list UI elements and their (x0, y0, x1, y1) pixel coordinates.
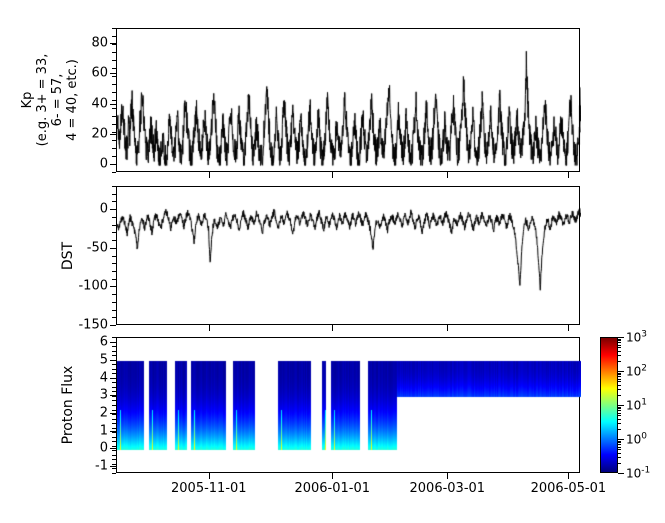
tick-mark (618, 457, 621, 458)
tick-mark (618, 389, 621, 390)
tick-mark (618, 442, 621, 443)
tick-mark (618, 351, 621, 352)
tick-mark (618, 473, 624, 474)
tick-mark (618, 439, 624, 440)
tick-mark (618, 340, 621, 341)
colorbar-tick-mantissa: 10 (626, 399, 641, 413)
colorbar-tick-exponent: 2 (641, 364, 647, 374)
tick-mark (618, 342, 621, 343)
colorbar-tick-exponent: -1 (641, 466, 650, 476)
colorbar-tick-mantissa: 10 (626, 365, 641, 379)
tick-mark (618, 381, 621, 382)
figure-root: Kp(e.g. 3+ = 33,6- = 57,4 = 40, etc.) 02… (0, 0, 665, 523)
tick-mark (618, 413, 621, 414)
tick-mark (618, 355, 621, 356)
tick-mark (618, 444, 621, 445)
tick-mark (618, 449, 621, 450)
colorbar-gradient (600, 337, 618, 473)
tick-mark (618, 463, 621, 464)
colorbar-tick-exponent: 0 (641, 432, 647, 442)
colorbar-tick-label: 102 (626, 364, 647, 379)
tick-mark (618, 371, 624, 372)
tick-mark (618, 423, 621, 424)
colorbar-tick-mantissa: 10 (626, 467, 641, 481)
tick-mark (618, 347, 621, 348)
colorbar: 10-1100101102103 (0, 0, 665, 523)
tick-mark (618, 405, 624, 406)
tick-mark (618, 374, 621, 375)
tick-mark (618, 379, 621, 380)
tick-mark (618, 441, 621, 442)
tick-mark (618, 407, 621, 408)
tick-mark (618, 337, 624, 338)
colorbar-tick-mantissa: 10 (626, 331, 641, 345)
tick-mark (618, 395, 621, 396)
tick-mark (618, 376, 621, 377)
tick-mark (618, 361, 621, 362)
colorbar-tick-label: 100 (626, 432, 647, 447)
tick-mark (618, 419, 621, 420)
tick-mark (618, 415, 621, 416)
tick-mark (618, 345, 621, 346)
colorbar-tick-label: 103 (626, 330, 647, 345)
tick-mark (618, 339, 621, 340)
tick-mark (618, 453, 621, 454)
tick-mark (618, 429, 621, 430)
tick-mark (618, 408, 621, 409)
colorbar-tick-mantissa: 10 (626, 433, 641, 447)
tick-mark (618, 385, 621, 386)
colorbar-tick-exponent: 3 (641, 330, 647, 340)
tick-mark (618, 373, 621, 374)
colorbar-tick-label: 101 (626, 398, 647, 413)
tick-mark (618, 410, 621, 411)
tick-mark (618, 447, 621, 448)
colorbar-tick-exponent: 1 (641, 398, 647, 408)
colorbar-tick-label: 10-1 (626, 466, 650, 481)
